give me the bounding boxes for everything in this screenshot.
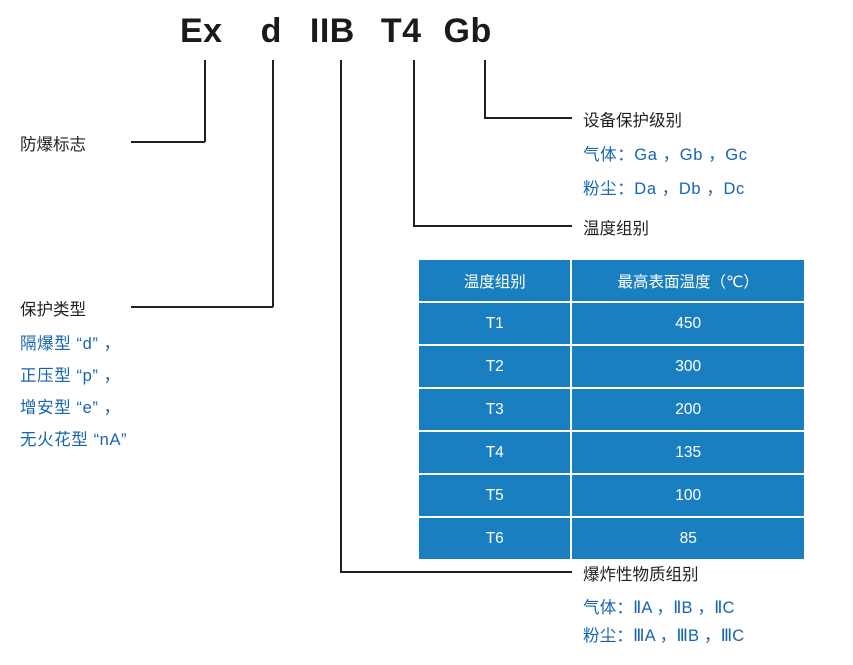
table-cell-temp-class: T6 (419, 518, 572, 559)
label-gas-group-gas: 气体：ⅡA ，ⅡB ，ⅡC (583, 594, 735, 618)
table-cell-temp-class: T1 (419, 303, 572, 346)
label-temp-group: 温度组别 (583, 215, 649, 239)
table-cell-temp-value: 300 (572, 346, 804, 389)
table-cell-temp-class: T4 (419, 432, 572, 475)
diagram-canvas: Ex d IIB T4 Gb 防爆标志 保护类型 隔爆型 “d” ， 正压型 “… (0, 0, 853, 665)
table-cell-temp-value: 135 (572, 432, 804, 475)
table-cell-temp-value: 200 (572, 389, 804, 432)
code-segment-gb: Gb (444, 12, 492, 51)
table-head: 温度组别 最高表面温度（℃） (419, 260, 804, 303)
table-row: T2 300 (419, 346, 804, 389)
table-row: T5 100 (419, 475, 804, 518)
table-row: T4 135 (419, 432, 804, 475)
table-body: T1 450 T2 300 T3 200 T4 135 T5 100 T6 85 (419, 303, 804, 559)
leader-hline-gb (484, 117, 572, 119)
table-cell-temp-value: 450 (572, 303, 804, 346)
leader-vline-iib (340, 60, 342, 572)
leader-vline-t4 (413, 60, 415, 226)
table-header-max-surface-temp: 最高表面温度（℃） (572, 260, 804, 303)
table-row: T1 450 (419, 303, 804, 346)
code-segment-d: d (261, 12, 282, 51)
table-cell-temp-class: T2 (419, 346, 572, 389)
table-header-temp-group: 温度组别 (419, 260, 572, 303)
leader-hline-iib (340, 571, 572, 573)
table-header-row: 温度组别 最高表面温度（℃） (419, 260, 804, 303)
leader-hline-d (131, 306, 273, 308)
label-protection-item-0: 隔爆型 “d” ， (20, 330, 121, 354)
label-protection-item-3: 无火花型 “nA” (20, 426, 127, 450)
table-cell-temp-class: T3 (419, 389, 572, 432)
label-equipment-gas: 气体：Ga ，Gb ，Gc (583, 141, 748, 165)
leader-vline-d (272, 60, 274, 307)
ex-code-line: Ex d IIB T4 Gb (180, 12, 492, 51)
code-segment-iib: IIB (310, 12, 355, 51)
table-row: T6 85 (419, 518, 804, 559)
table-row: T3 200 (419, 389, 804, 432)
table-cell-temp-value: 100 (572, 475, 804, 518)
code-segment-t4: T4 (381, 12, 422, 51)
leader-vline-ex (204, 60, 206, 142)
label-equipment-level: 设备保护级别 (583, 107, 682, 131)
label-gas-group-dust: 粉尘：ⅢA ，ⅢB ，ⅢC (583, 622, 744, 646)
label-protection-type: 保护类型 (20, 296, 86, 320)
label-protection-item-2: 增安型 “e” ， (20, 394, 121, 418)
label-equipment-dust: 粉尘：Da ，Db ，Dc (583, 175, 745, 199)
label-gas-group: 爆炸性物质组别 (583, 561, 699, 585)
code-segment-ex: Ex (180, 12, 223, 51)
table-cell-temp-class: T5 (419, 475, 572, 518)
leader-vline-gb (484, 60, 486, 118)
label-explosion-mark: 防爆标志 (20, 131, 86, 155)
table-cell-temp-value: 85 (572, 518, 804, 559)
leader-hline-ex (131, 141, 205, 143)
label-protection-item-1: 正压型 “p” ， (20, 362, 121, 386)
leader-hline-t4 (413, 225, 572, 227)
temperature-class-table: 温度组别 最高表面温度（℃） T1 450 T2 300 T3 200 T4 1… (419, 260, 804, 559)
